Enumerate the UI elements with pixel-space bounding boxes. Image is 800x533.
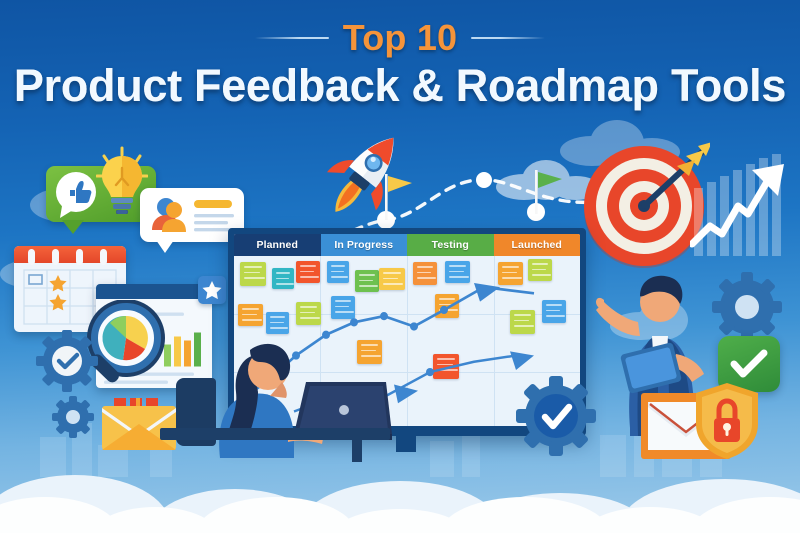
gear-check-icon (516, 376, 596, 456)
desk-leg (352, 440, 362, 462)
user-avatar-icon (152, 198, 186, 232)
title-kicker: Top 10 (343, 20, 458, 56)
title-rule-left (255, 37, 329, 39)
title-kicker-row: Top 10 (0, 18, 800, 58)
flag-icon (538, 172, 562, 188)
growth-arrow-icon (690, 148, 798, 260)
document-header (96, 284, 212, 299)
shield-lock-icon (694, 382, 760, 460)
milestone-dot (476, 172, 492, 188)
kanban-column-header-planned[interactable]: Planned (234, 234, 321, 256)
desk (160, 428, 390, 440)
title-main: Product Feedback & Roadmap Tools (0, 62, 800, 110)
gear-icon (52, 396, 94, 438)
star-icon (49, 275, 66, 291)
kanban-column-headers: Planned In Progress Testing Launched (234, 234, 580, 256)
star-icon (49, 294, 66, 310)
infographic-canvas: Top 10 Product Feedback & Roadmap Tools (0, 0, 800, 533)
flag-icon (388, 176, 412, 192)
pie-chart-icon (102, 316, 147, 360)
gear-check-icon (36, 330, 98, 392)
envelope-icon (100, 398, 178, 452)
kanban-column-header-in-progress[interactable]: In Progress (321, 234, 408, 256)
kanban-column-header-launched[interactable]: Launched (494, 234, 581, 256)
star-badge (198, 276, 226, 304)
kanban-column-header-testing[interactable]: Testing (407, 234, 494, 256)
page-title: Top 10 Product Feedback & Roadmap Tools (0, 18, 800, 110)
board-stand (396, 436, 416, 452)
star-icon (198, 276, 226, 304)
gear-icon (712, 272, 782, 342)
title-rule-right (471, 37, 545, 39)
